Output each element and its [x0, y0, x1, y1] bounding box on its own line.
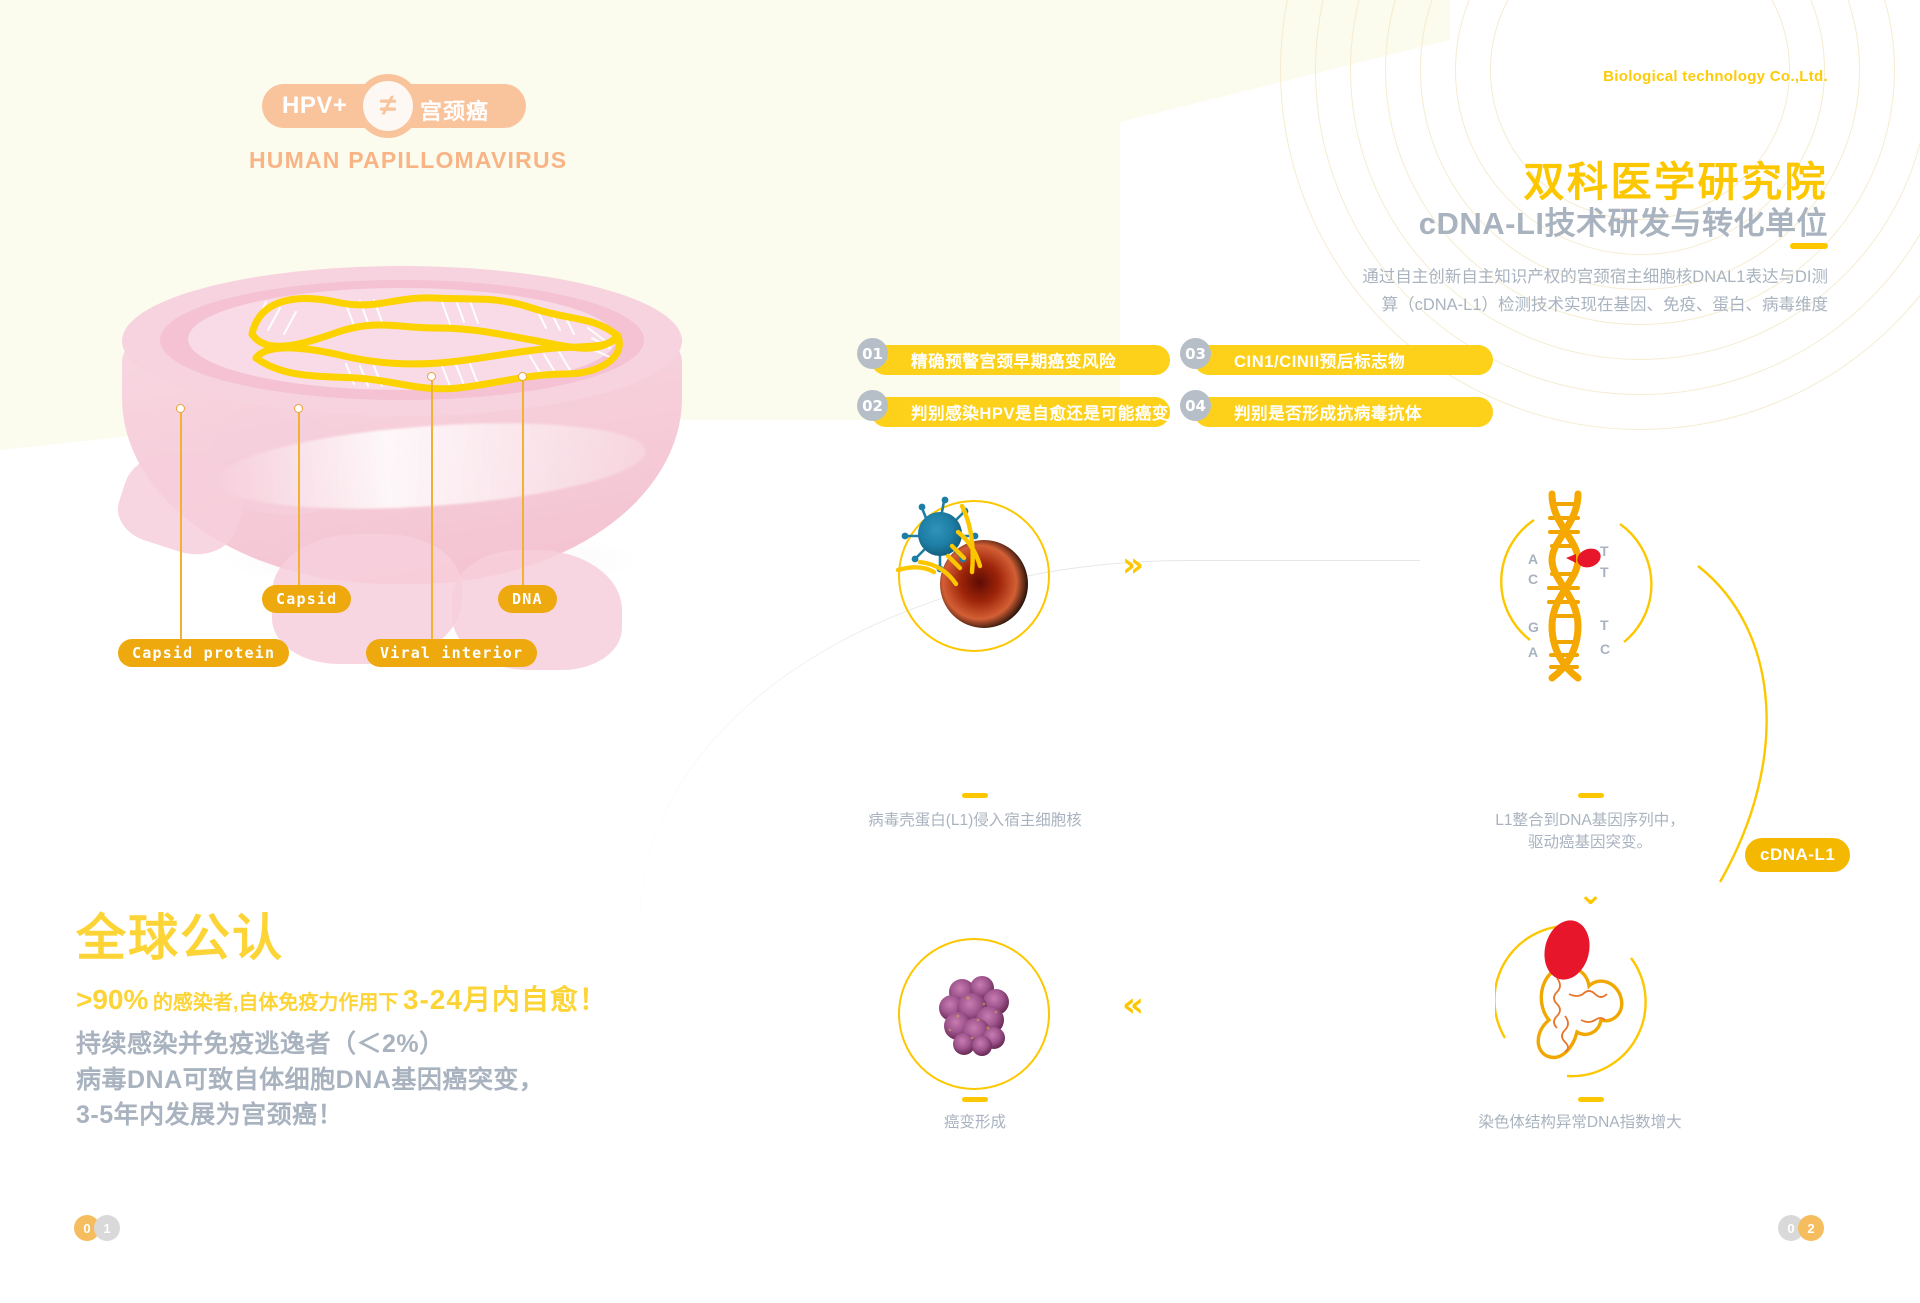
feature-label: 精确预警宫颈早期癌变风险: [911, 348, 1116, 372]
institute-description: 通过自主创新自主知识产权的宫颈宿主细胞核DNAL1表达与DI测算（cDNA-L1…: [1358, 263, 1828, 320]
feature-bar: 精确预警宫颈早期癌变风险: [871, 345, 1170, 375]
callout-line: [298, 413, 300, 586]
feature-label: 判别感染HPV是自愈还是可能癌变: [911, 400, 1169, 424]
stat-percent: >90%: [76, 984, 148, 1015]
callout-pin: [427, 372, 436, 381]
callout-line: [180, 413, 182, 640]
dna-mutation-graphic: AC GA TT TC: [1490, 482, 1690, 682]
callout-pin: [294, 404, 303, 413]
label-capsid: Capsid: [262, 585, 351, 613]
feature-bar: 判别感染HPV是自愈还是可能癌变: [871, 397, 1170, 427]
poster-canvas: HPV+ 宫颈癌 ≠ HUMAN PAPILLOMAVIRUS: [0, 0, 1920, 1303]
label-text: Viral interior: [380, 644, 523, 662]
feature-label: CIN1/CINII预后标志物: [1234, 348, 1405, 372]
feature-pill-02[interactable]: 02 判别感染HPV是自愈还是可能癌变: [857, 397, 1170, 427]
callout-pin: [518, 372, 527, 381]
cervical-cancer-label: 宫颈癌: [420, 94, 489, 126]
feature-pill-04[interactable]: 04 判别是否形成抗病毒抗体: [1180, 397, 1493, 427]
caption-rule-1: [962, 793, 988, 798]
process-caption-4: 癌变形成: [900, 1112, 1050, 1134]
cdna-l1-badge: cDNA-L1: [1745, 838, 1850, 872]
not-equal-circle: ≠: [356, 74, 420, 138]
persistent-infection-paragraph: 持续感染并免疫逃逸者（＜2%） 病毒DNA可致自体细胞DNA基因癌突变， 3-5…: [76, 1027, 544, 1134]
tumor-graphic: [928, 968, 1024, 1064]
feature-label: 判别是否形成抗病毒抗体: [1234, 400, 1422, 424]
caption-rule-3: [1578, 1097, 1604, 1102]
svg-text:T: T: [1600, 543, 1609, 559]
feature-bar: 判别是否形成抗病毒抗体: [1194, 397, 1493, 427]
feature-number: 03: [1180, 338, 1211, 369]
label-dna: DNA: [498, 585, 557, 613]
svg-text:G: G: [1528, 619, 1539, 635]
label-text: DNA: [512, 590, 543, 608]
caption-rule-4: [962, 1097, 988, 1102]
callout-pin: [176, 404, 185, 413]
svg-text:A: A: [1528, 644, 1538, 660]
feature-pill-03[interactable]: 03 CIN1/CINII预后标志物: [1180, 345, 1493, 375]
feature-number: 01: [857, 338, 888, 369]
page-number-left: 0 1: [74, 1215, 120, 1241]
label-capsid-protein: Capsid protein: [118, 639, 289, 667]
hpv-subtitle: HUMAN PAPILLOMAVIRUS: [249, 147, 567, 174]
label-text: Capsid: [276, 590, 337, 608]
stat-end-text: 3-24月内自愈！: [403, 984, 608, 1015]
institute-subtitle: cDNA-LI技术研发与转化单位: [1419, 198, 1828, 243]
company-name: Biological technology Co.,Ltd.: [1603, 68, 1828, 85]
virus-illustration: [96, 230, 716, 650]
svg-text:T: T: [1600, 617, 1609, 633]
process-caption-3: 染色体结构异常DNA指数增大: [1455, 1112, 1705, 1134]
process-caption-2: L1整合到DNA基因序列中， 驱动癌基因突变。: [1470, 810, 1710, 855]
page-number-right: 0 2: [1778, 1215, 1824, 1241]
process-caption-1: 病毒壳蛋白(L1)侵入宿主细胞核: [855, 810, 1095, 832]
caption-rule-2: [1578, 793, 1604, 798]
stat-middle-text: 的感染者,自体免疫力作用下: [153, 992, 399, 1014]
svg-text:A: A: [1528, 551, 1538, 567]
page-digit-second: 2: [1798, 1215, 1824, 1241]
feature-number: 04: [1180, 390, 1211, 421]
chevron-down-icon: ⌄: [1578, 880, 1603, 910]
label-viral-interior: Viral interior: [366, 639, 537, 667]
virus-nucleus-graphic: [890, 492, 1060, 662]
feature-bar: CIN1/CINII预后标志物: [1194, 345, 1493, 375]
svg-text:C: C: [1600, 641, 1610, 657]
label-text: Capsid protein: [132, 644, 275, 662]
callout-line: [431, 381, 433, 640]
svg-text:T: T: [1600, 564, 1609, 580]
chevron-left-icon: «: [1122, 988, 1144, 1022]
feature-pill-01[interactable]: 01 精确预警宫颈早期癌变风险: [857, 345, 1170, 375]
global-recognition-title: 全球公认: [76, 898, 284, 970]
title-underline: [1790, 243, 1828, 249]
hpv-label: HPV+: [282, 92, 347, 120]
svg-text:C: C: [1528, 571, 1538, 587]
chromosome-graphic: [1495, 920, 1685, 1110]
chevron-right-icon: »: [1122, 548, 1144, 582]
feature-number: 02: [857, 390, 888, 421]
global-stat-line: >90% 的感染者,自体免疫力作用下 3-24月内自愈！: [76, 978, 608, 1018]
page-digit-second: 1: [94, 1215, 120, 1241]
not-equal-icon: ≠: [363, 81, 413, 131]
callout-line: [522, 381, 524, 586]
